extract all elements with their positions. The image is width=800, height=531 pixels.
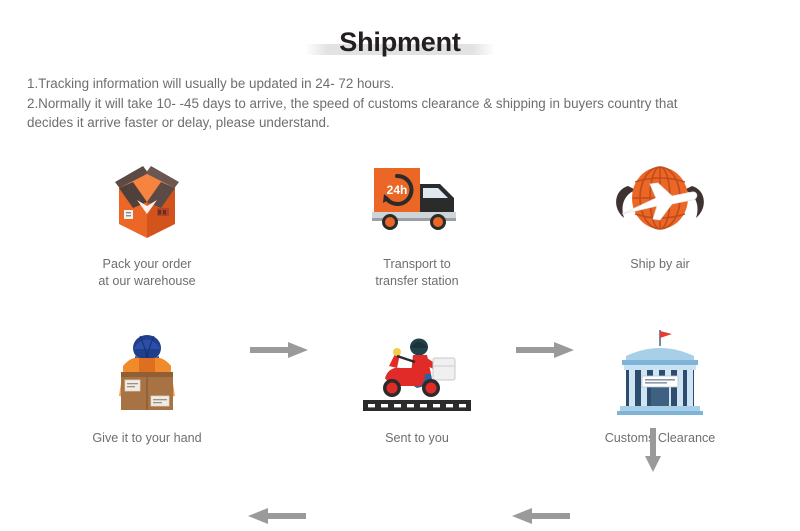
flow-step-hand-caption: Give it to your hand: [52, 430, 242, 447]
arrow-right-icon-1: [250, 340, 308, 365]
caption-line-1: Ship by air: [565, 256, 755, 273]
caption-line-1: Give it to your hand: [52, 430, 242, 447]
delivery-scooter-icon: [357, 326, 477, 418]
flow-step-transport-caption: Transport to transfer station: [322, 256, 512, 289]
flow-step-air-caption: Ship by air: [565, 256, 755, 273]
flow-step-ship-by-air: Ship by air: [565, 152, 755, 273]
arrow-down-icon: [643, 428, 663, 477]
page-title-block: Shipment: [0, 24, 800, 68]
delivery-truck-icon: 24h: [357, 152, 477, 244]
flow-step-transport: 24h Transport to transfer station: [322, 152, 512, 289]
flow-step-sent: Sent to you: [322, 326, 512, 447]
shipment-flow-diagram: Pack your order at our warehouse: [0, 148, 800, 458]
caption-line-1: Pack your order: [52, 256, 242, 273]
policy-line-3: decides it arrive faster or delay, pleas…: [27, 113, 775, 133]
flow-step-sent-caption: Sent to you: [322, 430, 512, 447]
arrow-right-icon-2: [516, 340, 574, 365]
arrow-left-icon-2: [248, 506, 306, 531]
flow-step-pack: Pack your order at our warehouse: [52, 152, 242, 289]
caption-line-2: at our warehouse: [52, 273, 242, 290]
caption-line-1: Transport to: [322, 256, 512, 273]
globe-airplane-icon: [600, 152, 720, 244]
customs-building-icon: [600, 326, 720, 418]
policy-line-2: 2.Normally it will take 10- -45 days to …: [27, 94, 775, 114]
flow-step-hand: Give it to your hand: [52, 326, 242, 447]
page-title: Shipment: [0, 24, 800, 60]
flow-step-pack-caption: Pack your order at our warehouse: [52, 256, 242, 289]
open-box-icon: [87, 152, 207, 244]
caption-line-2: transfer station: [322, 273, 512, 290]
policy-line-1: 1.Tracking information will usually be u…: [27, 74, 775, 94]
truck-badge-label: 24h: [387, 183, 408, 197]
caption-line-1: Sent to you: [322, 430, 512, 447]
shipping-policy-text: 1.Tracking information will usually be u…: [27, 74, 775, 133]
arrow-left-icon-1: [512, 506, 570, 531]
courier-with-parcel-icon: [87, 326, 207, 418]
